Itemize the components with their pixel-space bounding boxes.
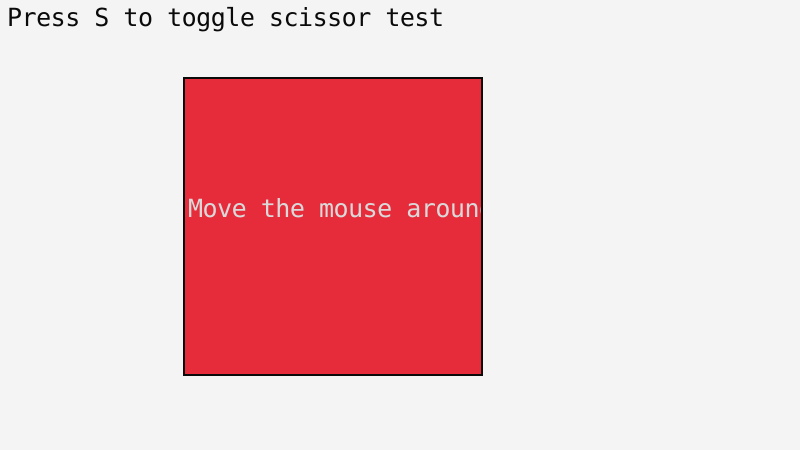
instruction-text: Press S to toggle scissor test [7, 5, 444, 31]
scissor-rectangle[interactable]: Move the mouse around to r [183, 77, 483, 376]
demo-canvas[interactable]: Press S to toggle scissor test Move the … [0, 0, 800, 450]
scissor-clipped-text: Move the mouse around to r [188, 196, 483, 222]
